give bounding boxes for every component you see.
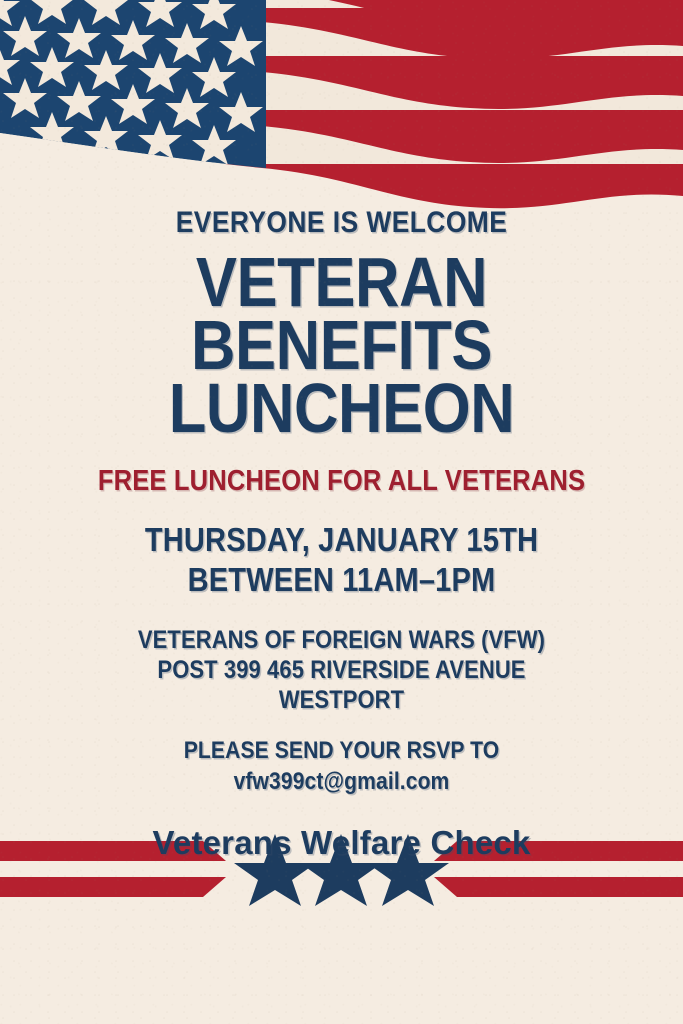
kicker-text: EVERYONE IS WELCOME: [41, 206, 642, 240]
rsvp-label: PLEASE SEND YOUR RSVP TO: [41, 735, 642, 766]
page-title-line-2: LUNCHEON: [41, 377, 642, 440]
waving-flag-icon: [0, 0, 683, 230]
event-date: THURSDAY, JANUARY 15TH: [41, 520, 642, 560]
flag-canton: [0, 0, 266, 175]
poster-canvas: EVERYONE IS WELCOME VETERAN BENEFITS LUN…: [0, 0, 683, 1024]
page-title-line-1: VETERAN BENEFITS: [41, 251, 642, 377]
event-time: BETWEEN 11AM–1PM: [41, 560, 642, 600]
venue-organization: VETERANS OF FOREIGN WARS (VFW): [41, 625, 642, 655]
signoff-text: Veterans Welfare Check: [0, 823, 683, 863]
poster-content: EVERYONE IS WELCOME VETERAN BENEFITS LUN…: [0, 206, 683, 863]
rsvp-email-address[interactable]: vfw399ct@gmail.com: [41, 766, 642, 797]
venue-street-address: POST 399 465 RIVERSIDE AVENUE: [41, 655, 642, 685]
subheadline-text: FREE LUNCHEON FOR ALL VETERANS: [41, 464, 642, 498]
flag-graphic: [0, 0, 683, 230]
venue-city: WESTPORT: [41, 685, 642, 715]
